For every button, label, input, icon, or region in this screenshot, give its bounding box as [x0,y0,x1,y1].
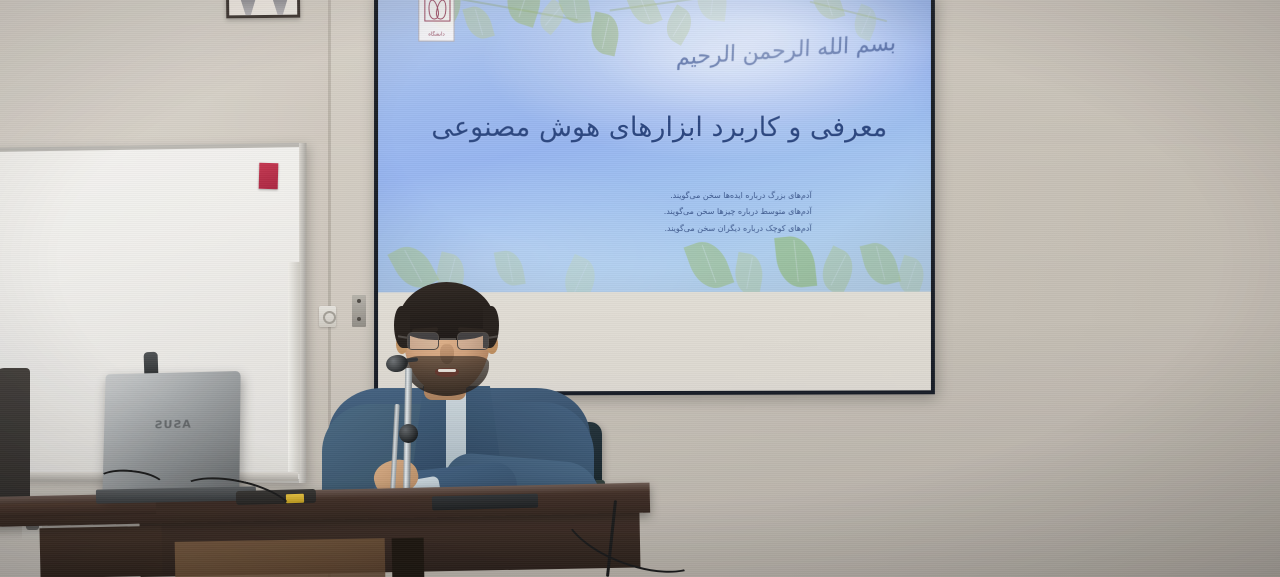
lens-right [457,332,489,350]
university-logo-mark [424,0,450,22]
bismillah-calligraphy: بسم الله الرحمن الرحیم [676,31,897,71]
left-dark-panel [0,368,30,508]
leaf-icon [695,0,729,22]
asus-logo: ASUS [153,418,190,432]
mic-adjust-knob [399,424,418,443]
desk-leg-gap [392,538,425,577]
mouth [435,368,459,377]
slide-quote-line: آدم‌های بزرگ درباره ایده‌ها سخن می‌گویند… [664,188,812,204]
framed-picture [226,0,301,18]
leaf-icon [462,3,495,42]
slide-title: معرفی و کاربرد ابزارهای هوش مصنوعی [378,110,887,147]
lens-left [407,332,439,350]
keyboard [432,494,538,511]
desk-wood-inlay [175,538,386,577]
photo-scene: دانشگاه بسم الله الرحمن الرحیم معرفی و ک… [0,0,1280,577]
leaf-icon [587,11,623,56]
leaf-icon [815,245,860,292]
whiteboard-frame-right [299,143,306,483]
university-logo: دانشگاه [418,0,454,42]
university-logo-caption: دانشگاه [419,32,453,38]
leaf-icon [810,0,846,24]
leaf-icon [774,234,817,290]
leaf-icon [893,255,929,293]
projected-slide: دانشگاه بسم الله الرحمن الرحیم معرفی و ک… [378,0,931,292]
whiteboard-right-trim [288,262,300,474]
glasses-bridge [440,338,456,340]
leaf-icon [860,239,901,289]
eyeglasses [404,332,492,350]
slide-quotes: آدم‌های بزرگ درباره ایده‌ها سخن می‌گویند… [664,188,812,237]
portrait-right [267,0,293,15]
slide-quote-line: آدم‌های کوچک درباره دیگران سخن می‌گویند. [664,221,812,237]
desk-side-return [39,526,162,577]
leaf-icon [660,4,698,45]
leaf-icon [684,235,735,292]
slide-quote-line: آدم‌های متوسط درباره چیزها سخن می‌گویند. [664,204,812,220]
leaf-icon [732,252,766,293]
sticky-note [259,163,279,189]
portrait-left [235,0,261,15]
